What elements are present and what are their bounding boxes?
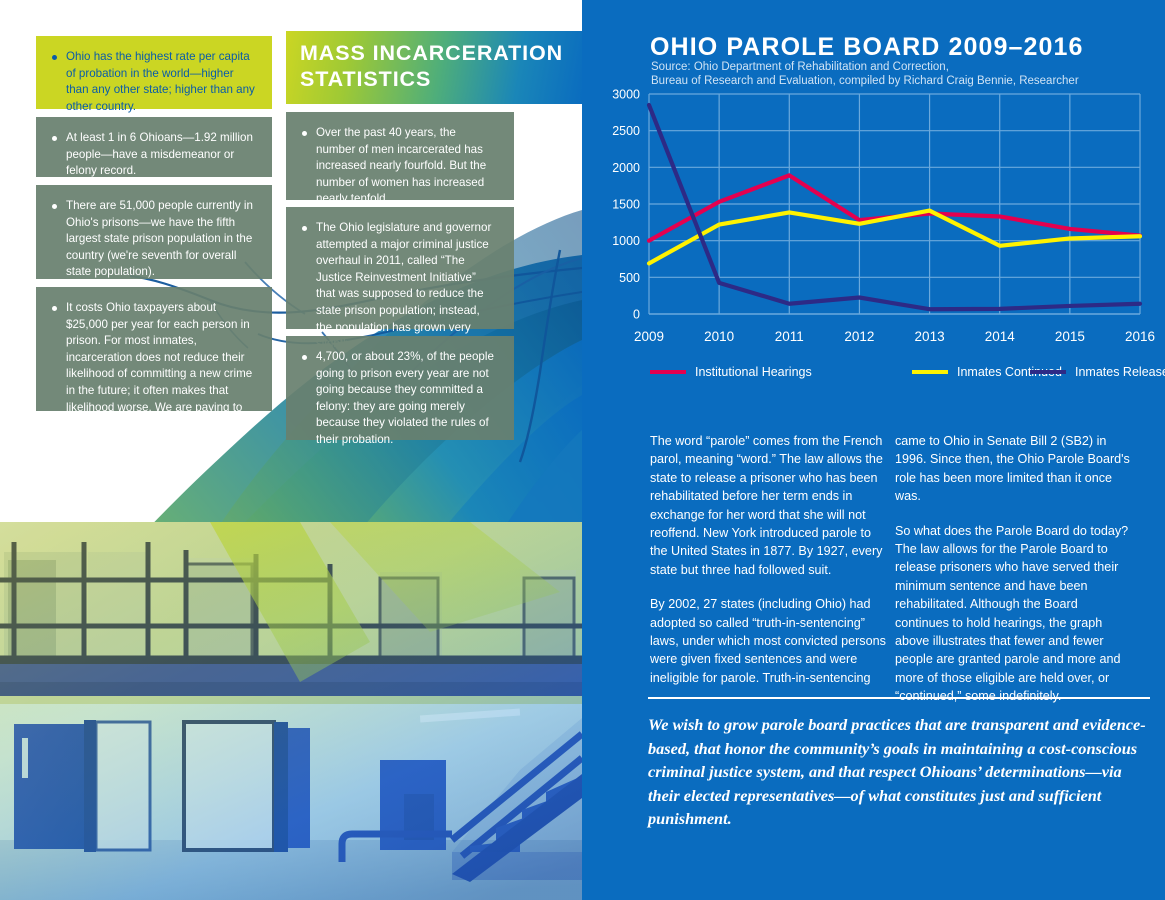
body-column-right: came to Ohio in Senate Bill 2 (SB2) in 1…	[895, 432, 1131, 722]
chart-source-line-1: Source: Ohio Department of Rehabilitatio…	[651, 61, 1151, 75]
x-axis-tick-label: 2009	[634, 329, 664, 344]
bullet-icon	[302, 226, 307, 231]
body-paragraph: By 2002, 27 states (including Ohio) had …	[650, 595, 886, 687]
stat-box-probation-violations: 4,700, or about 23%, of the people going…	[286, 336, 514, 440]
stat-box-men-women-growth: Over the past 40 years, the number of me…	[286, 112, 514, 200]
x-axis-tick-label: 2015	[1055, 329, 1085, 344]
pull-quote: We wish to grow parole board practices t…	[648, 713, 1153, 831]
legend-label: Institutional Hearings	[695, 365, 812, 379]
x-axis-tick-label: 2011	[775, 329, 804, 344]
legend-swatch-icon	[650, 370, 686, 374]
bullet-icon	[52, 136, 57, 141]
left-panel: Ohio has the highest rate per capita of …	[0, 0, 582, 900]
stat-text: The Ohio legislature and governor attemp…	[316, 220, 498, 353]
chart-legend: Institutional HearingsInmates ContinuedI…	[582, 365, 1165, 385]
bullet-icon	[52, 55, 57, 60]
stat-box-prison-population: There are 51,000 people currently in Ohi…	[36, 185, 272, 279]
y-axis-tick-label: 500	[619, 271, 640, 285]
y-axis-tick-label: 0	[633, 308, 640, 322]
legend-label: Inmates Released	[1075, 365, 1165, 379]
stat-box-criminal-record: At least 1 in 6 Ohioans—1.92 million peo…	[36, 117, 272, 177]
chart-series-inmates-continued	[649, 211, 1140, 264]
right-panel: OHIO PAROLE BOARD 2009–2016 Source: Ohio…	[582, 0, 1165, 900]
body-paragraph: The word “parole” comes from the French …	[650, 432, 886, 579]
stat-box-justice-reinvestment: The Ohio legislature and governor attemp…	[286, 207, 514, 329]
stat-text: There are 51,000 people currently in Ohi…	[66, 198, 256, 281]
legend-item-institutional-hearings: Institutional Hearings	[650, 365, 812, 379]
chart-series-inmates-released	[649, 105, 1140, 309]
body-paragraph: came to Ohio in Senate Bill 2 (SB2) in 1…	[895, 432, 1131, 506]
bullet-icon	[52, 204, 57, 209]
x-axis-tick-label: 2010	[704, 329, 734, 344]
prison-interior-photo	[0, 522, 582, 900]
bullet-icon	[302, 131, 307, 136]
legend-swatch-icon	[912, 370, 948, 374]
body-paragraph: So what does the Parole Board do today? …	[895, 522, 1131, 706]
stat-text: Ohio has the highest rate per capita of …	[66, 49, 256, 115]
body-column-left: The word “parole” comes from the French …	[650, 432, 886, 703]
stat-box-probation-rate: Ohio has the highest rate per capita of …	[36, 36, 272, 109]
bullet-icon	[302, 355, 307, 360]
y-axis-tick-label: 1000	[612, 234, 640, 248]
y-axis-tick-label: 3000	[612, 88, 640, 102]
bullet-icon	[52, 306, 57, 311]
stat-text: 4,700, or about 23%, of the people going…	[316, 349, 498, 449]
y-axis-tick-label: 2500	[612, 124, 640, 138]
stat-text: It costs Ohio taxpayers about $25,000 pe…	[66, 300, 256, 433]
stat-text: At least 1 in 6 Ohioans—1.92 million peo…	[66, 130, 256, 180]
y-axis-tick-label: 2000	[612, 161, 640, 175]
infographic-page: Ohio has the highest rate per capita of …	[0, 0, 1165, 900]
x-axis-tick-label: 2013	[915, 329, 945, 344]
stat-text: Over the past 40 years, the number of me…	[316, 125, 498, 208]
chart-title: OHIO PAROLE BOARD 2009–2016	[650, 33, 1084, 62]
y-axis-tick-label: 1500	[612, 198, 640, 212]
parole-board-line-chart: 0500100015002000250030002009201020112012…	[582, 85, 1165, 355]
chart-series-institutional-hearings	[649, 175, 1140, 240]
legend-swatch-icon	[1030, 370, 1066, 374]
x-axis-tick-label: 2016	[1125, 329, 1155, 344]
mass-incarceration-title: MASS INCARCERATION STATISTICS	[286, 31, 582, 104]
stat-box-taxpayer-cost: It costs Ohio taxpayers about $25,000 pe…	[36, 287, 272, 411]
legend-item-inmates-released: Inmates Released	[1030, 365, 1165, 379]
x-axis-tick-label: 2014	[985, 329, 1016, 344]
x-axis-tick-label: 2012	[844, 329, 874, 344]
chart-source: Source: Ohio Department of Rehabilitatio…	[651, 61, 1151, 88]
pullquote-divider	[648, 697, 1150, 699]
